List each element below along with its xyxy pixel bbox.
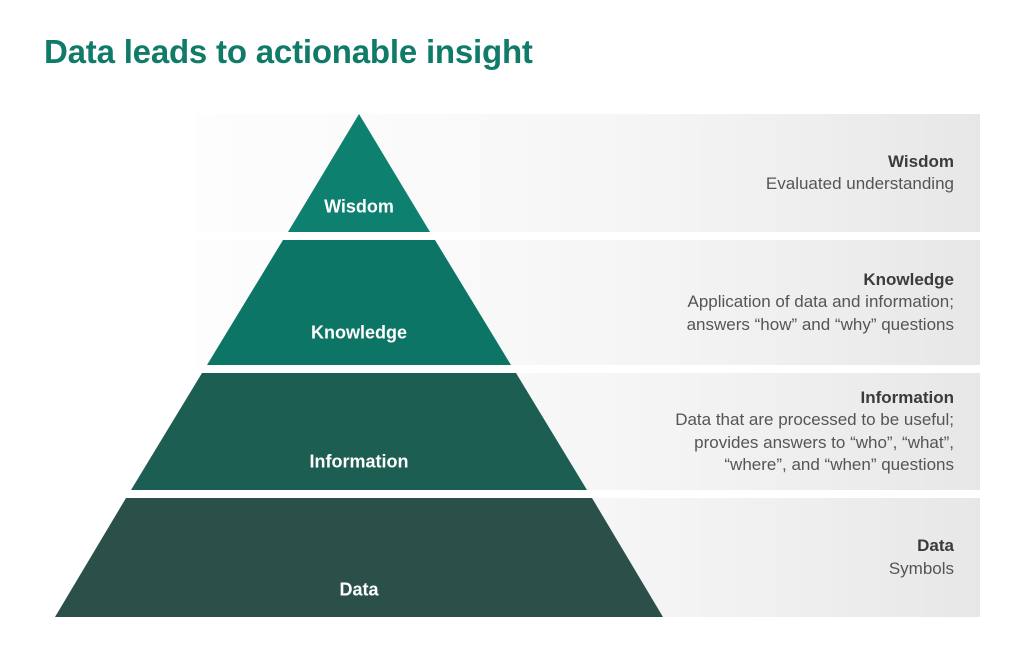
pyramid-label-data: Data [339, 580, 378, 601]
panel-heading-knowledge: Knowledge [196, 269, 954, 291]
slide-canvas: Data leads to actionable insight Wisdom … [0, 0, 1024, 659]
pyramid-label-information: Information [310, 452, 409, 473]
panel-heading-wisdom: Wisdom [196, 151, 954, 173]
description-panel-knowledge: Knowledge Application of data and inform… [196, 240, 980, 365]
panel-body-wisdom-line-1: Evaluated understanding [196, 173, 954, 195]
panel-body-information-line-2: provides answers to “who”, “what”, [196, 432, 954, 454]
panel-body-information-line-1: Data that are processed to be useful; [196, 409, 954, 431]
panel-heading-information: Information [196, 387, 954, 409]
pyramid-label-knowledge: Knowledge [311, 323, 407, 344]
page-title: Data leads to actionable insight [44, 33, 533, 71]
pyramid-label-wisdom: Wisdom [324, 197, 394, 218]
description-panel-wisdom: Wisdom Evaluated understanding [196, 114, 980, 232]
description-panel-data: Data Symbols [196, 498, 980, 617]
panel-heading-data: Data [196, 535, 954, 557]
panel-body-knowledge-line-2: answers “how” and “why” questions [196, 314, 954, 336]
panel-body-data-line-1: Symbols [196, 558, 954, 580]
panel-body-knowledge-line-1: Application of data and information; [196, 291, 954, 313]
